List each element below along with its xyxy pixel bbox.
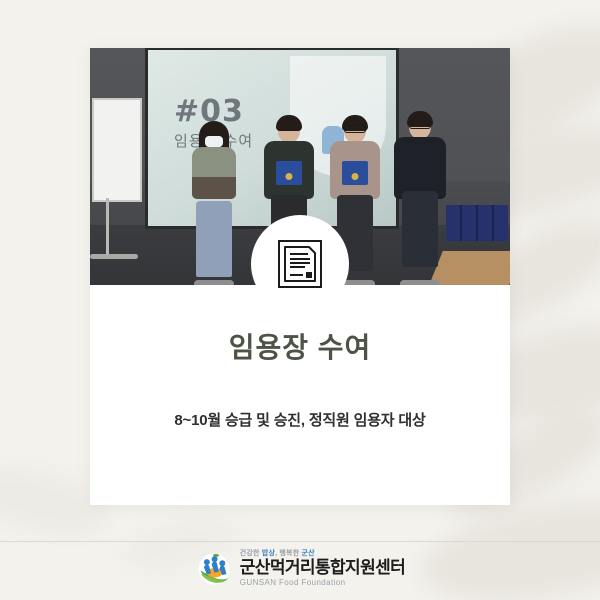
gunsan-food-foundation-logo-icon bbox=[195, 549, 233, 587]
tagline-highlight-1: 밥상 bbox=[262, 550, 275, 557]
content-card: #03 임용장 수여 bbox=[90, 48, 510, 505]
footer-logo-text: 건강한 밥상, 행복한 군산 군산먹거리통합지원센터 GUNSAN Food F… bbox=[240, 550, 405, 587]
organization-name-ko: 군산먹거리통합지원센터 bbox=[240, 559, 405, 576]
footer-divider bbox=[0, 541, 600, 542]
footer: 건강한 밥상, 행복한 군산 군산먹거리통합지원센터 GUNSAN Food F… bbox=[0, 543, 600, 593]
tagline-highlight-2: 군산 bbox=[302, 550, 315, 557]
organization-name-en: GUNSAN Food Foundation bbox=[240, 579, 405, 587]
tagline-part-1: 건강한 bbox=[240, 550, 260, 557]
tagline-part-2: , 행복한 bbox=[275, 550, 299, 557]
person-4 bbox=[390, 113, 450, 285]
certificate-document-icon bbox=[277, 239, 323, 289]
person-1 bbox=[186, 123, 242, 285]
certificate-badge bbox=[251, 215, 349, 313]
page-subtitle: 8~10월 승급 및 승진, 정직원 임용자 대상 bbox=[90, 365, 510, 430]
poster-root: #03 임용장 수여 bbox=[0, 0, 600, 600]
footer-tagline: 건강한 밥상, 행복한 군산 bbox=[240, 550, 405, 557]
page-title: 임용장 수여 bbox=[90, 331, 510, 365]
